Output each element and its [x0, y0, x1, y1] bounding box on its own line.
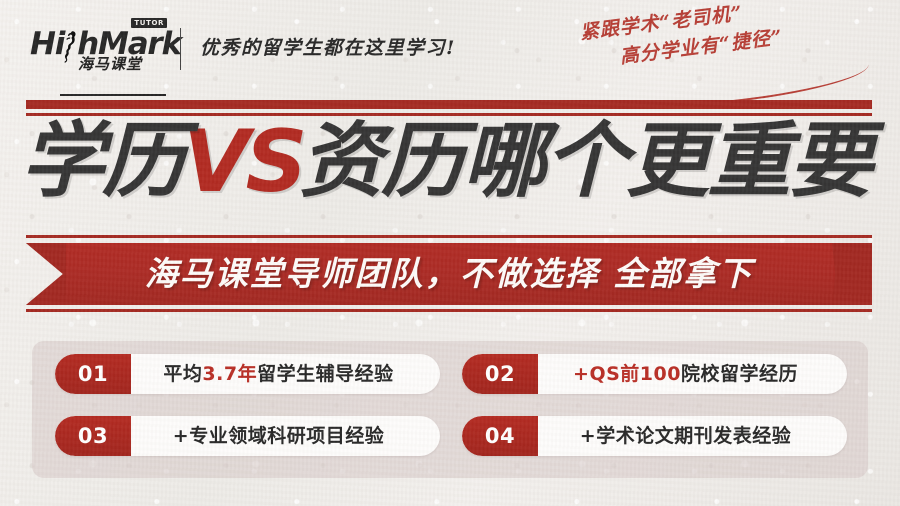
item-text-prefix: +学术论文期刊发表经验 [580, 425, 791, 447]
item-number-badge: 02 [462, 354, 538, 394]
list-item[interactable]: 03 +专业领域科研项目经验 [55, 416, 440, 456]
item-number-badge: 03 [55, 416, 131, 456]
title-rule-thick [26, 100, 872, 109]
item-label: +学术论文期刊发表经验 [538, 416, 847, 456]
title-part-2: 资历哪个更重要 [299, 116, 870, 208]
seahorse-icon [63, 30, 78, 64]
item-label: +QS前100院校留学经历 [538, 354, 847, 394]
ribbon-rule-top [26, 235, 872, 238]
logo-word-part1: Hi [30, 26, 64, 62]
header: HihMark TUTOR 海马课堂 优秀的留学生都在这里学习! 紧跟学术“老司… [0, 0, 900, 96]
item-number-badge: 04 [462, 416, 538, 456]
item-number-badge: 01 [55, 354, 131, 394]
credentials-list: 01 平均3.7年留学生辅导经验 02 +QS前100院校留学经历 03 +专业… [55, 354, 847, 466]
item-label: +专业领域科研项目经验 [131, 416, 440, 456]
list-item[interactable]: 01 平均3.7年留学生辅导经验 [55, 354, 440, 394]
item-text-suffix: 院校留学经历 [681, 363, 798, 385]
page-title: 学历VS资历哪个更重要 [22, 112, 882, 212]
logo-underline [60, 94, 166, 96]
header-divider [180, 28, 181, 70]
list-item[interactable]: 02 +QS前100院校留学经历 [462, 354, 847, 394]
ribbon-banner [26, 243, 872, 305]
slogan-underline-swoosh [709, 62, 871, 105]
item-text-prefix: 平均 [163, 363, 202, 385]
header-tagline: 优秀的留学生都在这里学习! [200, 36, 456, 60]
poster-canvas: HihMark TUTOR 海马课堂 优秀的留学生都在这里学习! 紧跟学术“老司… [0, 0, 900, 506]
item-label: 平均3.7年留学生辅导经验 [131, 354, 440, 394]
logo-chinese-name: 海马课堂 [78, 56, 142, 73]
ribbon-rule-bottom [26, 309, 872, 312]
item-text-highlight: +QS前100 [573, 363, 681, 385]
brand-logo: HihMark TUTOR 海马课堂 [30, 26, 170, 74]
corner-slogan: 紧跟学术“老司机” 高分学业有“捷径” [578, 18, 878, 80]
item-text-prefix: +专业领域科研项目经验 [173, 425, 384, 447]
ribbon-notch-left [26, 243, 66, 305]
ribbon-notch-right [832, 243, 872, 305]
item-text-suffix: 留学生辅导经验 [257, 363, 394, 385]
logo-tutor-badge: TUTOR [131, 18, 167, 28]
title-part-1: 学历 [20, 116, 183, 208]
title-vs: VS [182, 116, 305, 208]
list-item[interactable]: 04 +学术论文期刊发表经验 [462, 416, 847, 456]
item-text-highlight: 3.7年 [202, 363, 257, 385]
